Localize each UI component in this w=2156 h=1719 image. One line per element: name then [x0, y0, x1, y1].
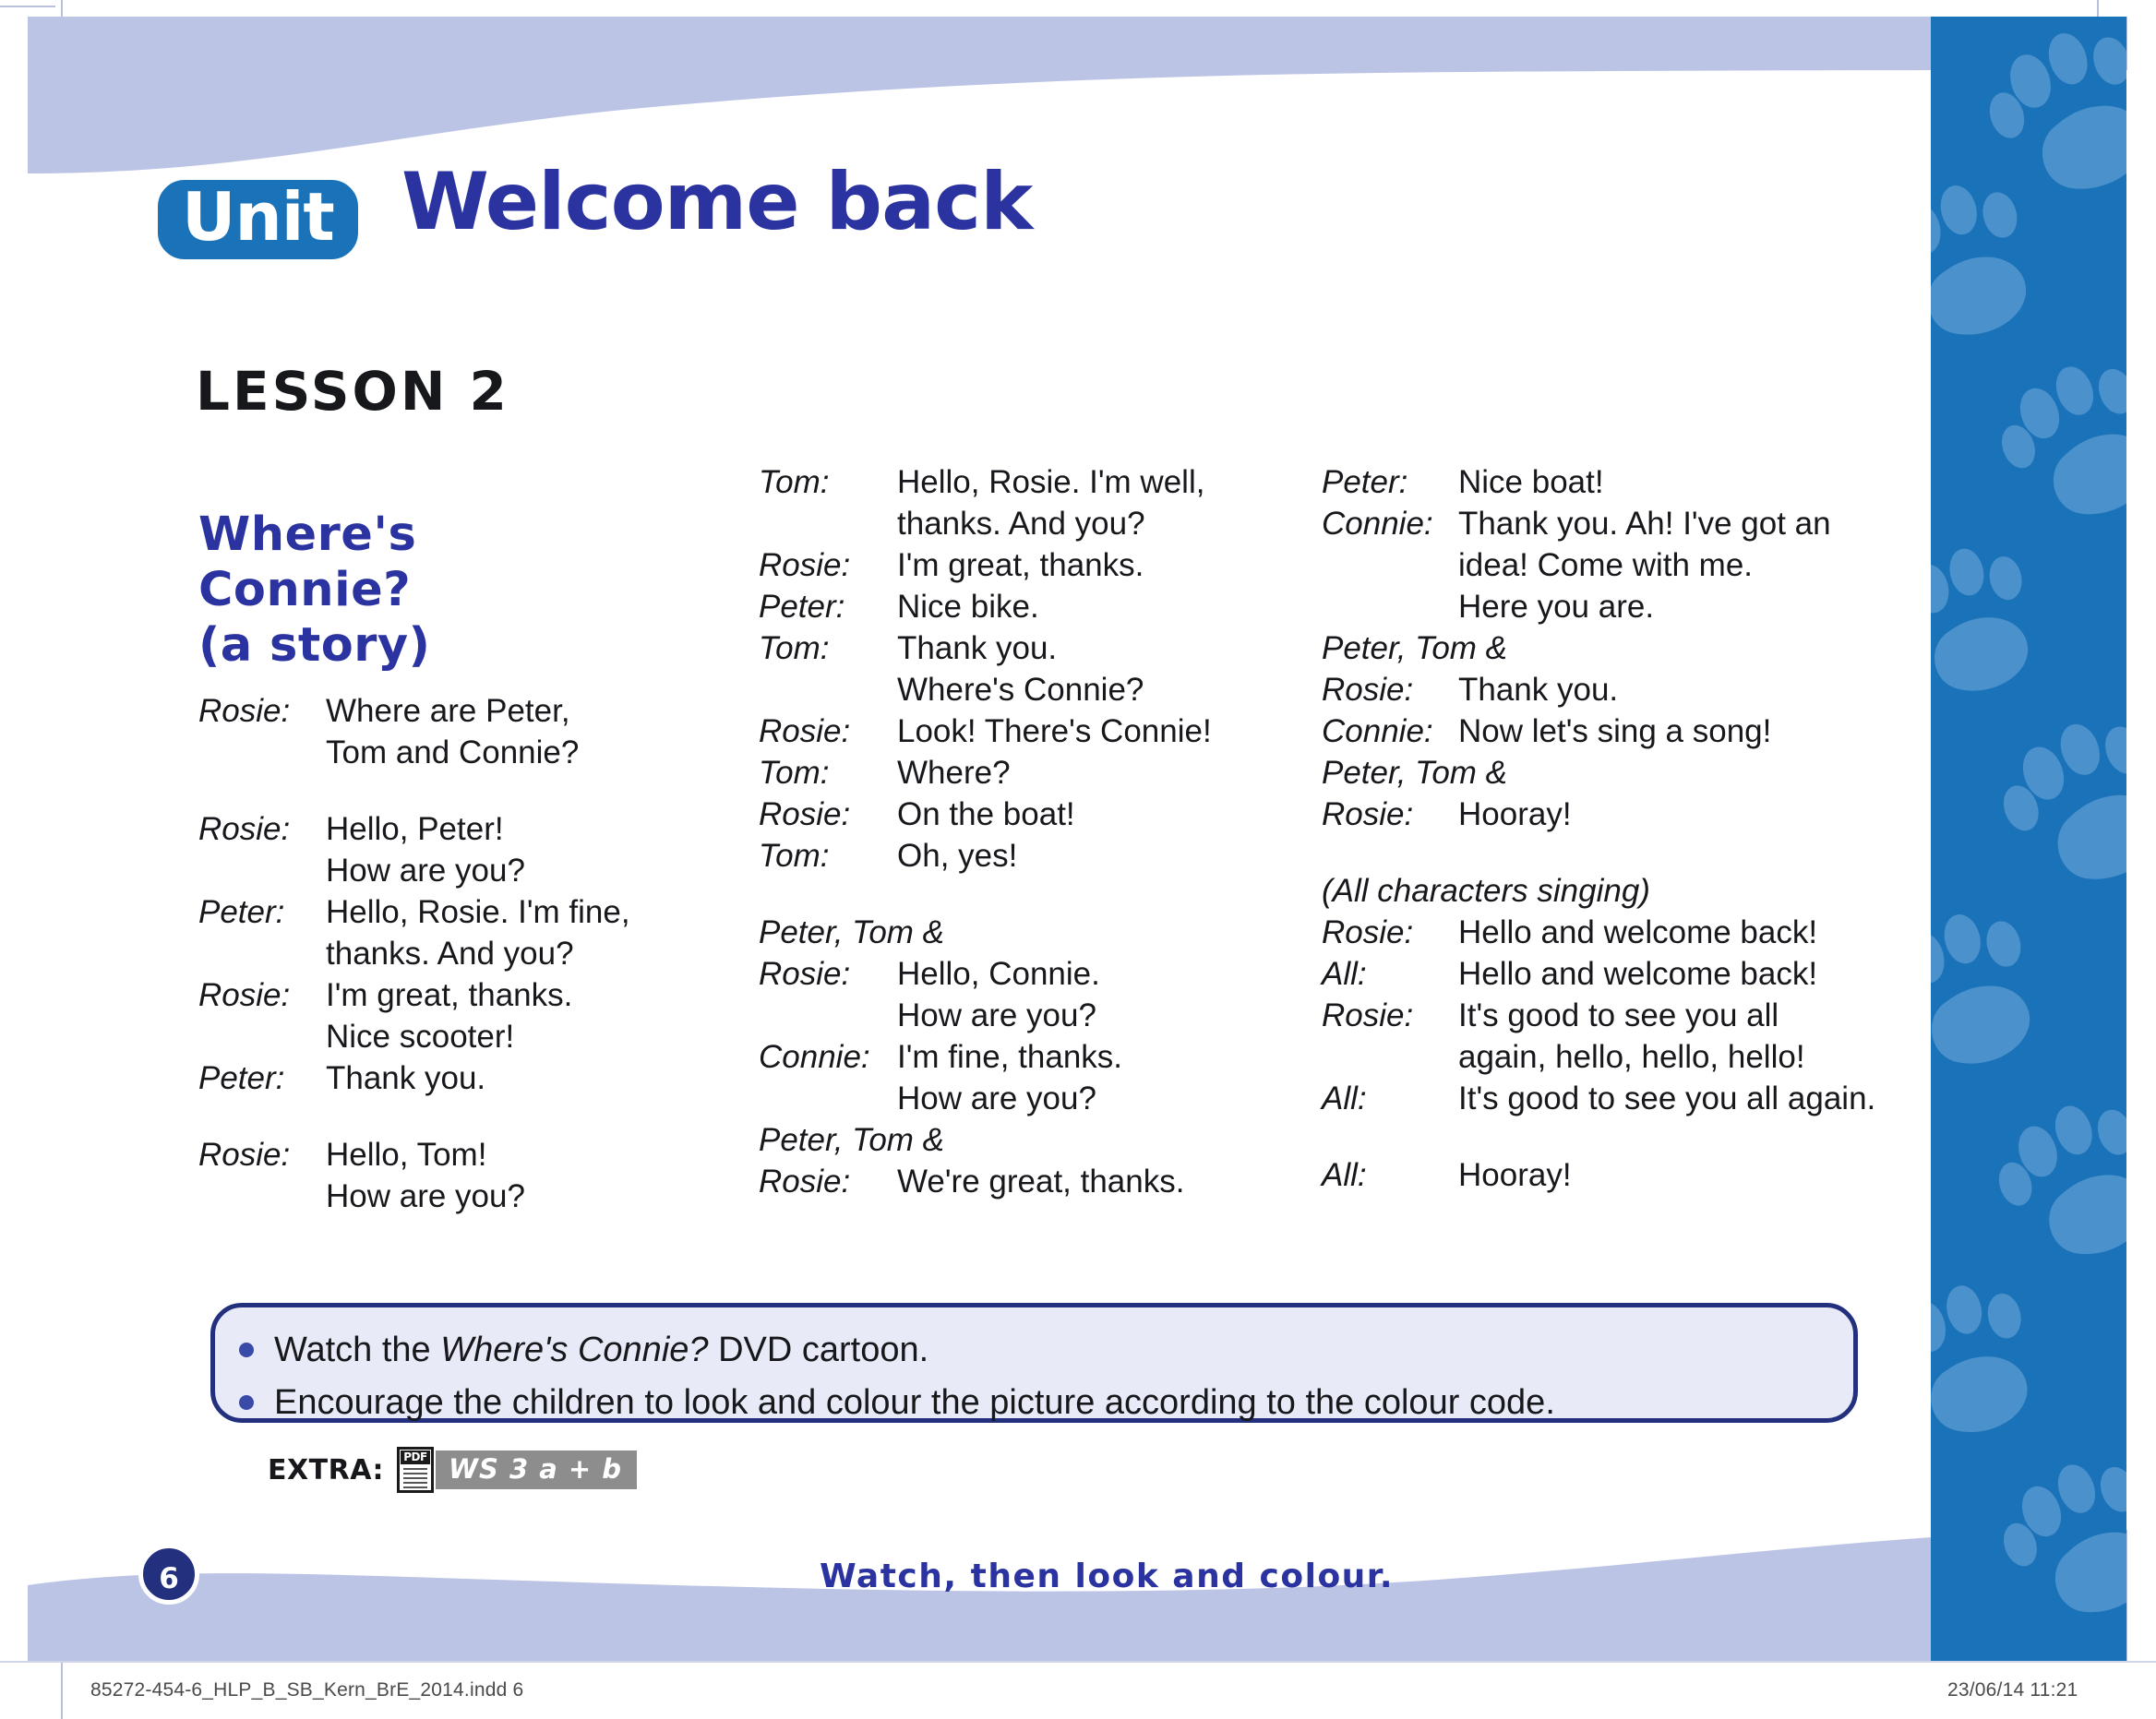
dialogue-text: Nice scooter! — [326, 1016, 715, 1057]
dialogue-line: Rosie:Look! There's Connie! — [759, 710, 1322, 752]
dialogue-line: Rosie:How are you? — [759, 995, 1322, 1036]
textbook-page: Unit Welcome back LESSON 2 Where's Conni… — [0, 0, 2156, 1719]
speaker-label: Peter: — [198, 1057, 326, 1099]
dialogue-line: Rosie:Hooray! — [1322, 794, 1912, 835]
page-title: Welcome back — [401, 162, 1032, 242]
dialogue-text: Nice boat! — [1458, 461, 1912, 503]
dialogue-text: Here you are. — [1458, 586, 1912, 627]
dialogue-line: Peter:Hello, Rosie. I'm fine, — [198, 891, 715, 933]
speaker-label: Rosie: — [759, 794, 897, 835]
speaker-label: Rosie: — [198, 690, 326, 732]
dialogue-line: Tom:Hello, Rosie. I'm well, — [759, 461, 1322, 503]
dialogue-text: thanks. And you? — [326, 933, 715, 974]
dialogue-column-2: Tom:Hello, Rosie. I'm well,Tom:thanks. A… — [759, 461, 1322, 1202]
dialogue-line: All:It's good to see you all again. — [1322, 1078, 1912, 1119]
speaker-label: All: — [1322, 1154, 1458, 1196]
speaker-label: Peter: — [1322, 461, 1458, 503]
speaker-label: Peter: — [759, 586, 897, 627]
dialogue-line: Rosie:again, hello, hello, hello! — [1322, 1036, 1912, 1078]
dialogue-text: We're great, thanks. — [897, 1161, 1322, 1202]
dialogue-line: Peter:Nice bike. — [759, 586, 1322, 627]
dialogue-gap — [198, 773, 715, 808]
dialogue-text: idea! Come with me. — [1458, 544, 1912, 586]
speaker-label-wide: Peter, Tom & — [1322, 752, 1912, 794]
dialogue-line: Connie:I'm fine, thanks. — [759, 1036, 1322, 1078]
instruction-item-2-text: Encourage the children to look and colou… — [274, 1377, 1555, 1429]
dialogue-line: All:Hooray! — [1322, 1154, 1912, 1196]
dialogue-text: again, hello, hello, hello! — [1458, 1036, 1912, 1078]
speaker-label-wide: Peter, Tom & — [1322, 627, 1912, 669]
dialogue-gap — [1322, 835, 1912, 870]
dialogue-column-3: Peter:Nice boat!Connie:Thank you. Ah! I'… — [1322, 461, 1912, 1196]
trim-mark-top — [0, 6, 55, 7]
pdf-icon-label: PDF — [401, 1450, 430, 1464]
speaker-label: Rosie: — [1322, 794, 1458, 835]
dialogue-text: Thank you. — [1458, 669, 1912, 710]
instruction-item-1-text: Watch the Where's Connie? DVD cartoon. — [274, 1324, 928, 1377]
story-title: Where's Connie? (a story) — [198, 507, 632, 674]
dialogue-text: Look! There's Connie! — [897, 710, 1322, 752]
dialogue-text: Hello and welcome back! — [1458, 953, 1912, 995]
dialogue-text: How are you? — [897, 995, 1322, 1036]
story-title-line2: (a story) — [198, 618, 632, 674]
dialogue-line: Tom:Where? — [759, 752, 1322, 794]
dialogue-line: Connie:Here you are. — [1322, 586, 1912, 627]
speaker-label: Peter: — [198, 891, 326, 933]
dialogue-text: Hello, Peter! — [326, 808, 715, 850]
trim-mark-bottom — [0, 1661, 2156, 1663]
extra-resource-row: EXTRA: PDF WS 3 a + b — [268, 1447, 637, 1493]
dialogue-line: Rosie:Nice scooter! — [198, 1016, 715, 1057]
story-title-line1: Where's Connie? — [198, 507, 632, 618]
dialogue-text: How are you? — [326, 850, 715, 891]
dialogue-text: I'm great, thanks. — [897, 544, 1322, 586]
speaker-label: Connie: — [1322, 710, 1458, 752]
dialogue-text: On the boat! — [897, 794, 1322, 835]
dialogue-text: Hello, Rosie. I'm fine, — [326, 891, 715, 933]
dialogue-text: Where are Peter, — [326, 690, 715, 732]
speaker-label: Tom: — [759, 835, 897, 877]
lesson-heading: LESSON 2 — [196, 360, 509, 423]
extra-label: EXTRA: — [268, 1454, 384, 1486]
dialogue-text: Nice bike. — [897, 586, 1322, 627]
speaker-label: Tom: — [759, 752, 897, 794]
page-number-badge: 6 — [138, 1544, 199, 1605]
dialogue-text: Hello, Tom! — [326, 1134, 715, 1176]
dialogue-line: Tom:thanks. And you? — [759, 503, 1322, 544]
dvd-title: Where's Connie? — [440, 1331, 708, 1369]
dialogue-line: All:Hello and welcome back! — [1322, 953, 1912, 995]
dialogue-line: Peter:thanks. And you? — [198, 933, 715, 974]
dialogue-text: Hello and welcome back! — [1458, 912, 1912, 953]
dialogue-line: Connie:idea! Come with me. — [1322, 544, 1912, 586]
speaker-label-wide: Peter, Tom & — [759, 912, 1322, 953]
bullet-icon — [239, 1343, 254, 1357]
dialogue-line: Rosie:I'm great, thanks. — [198, 974, 715, 1016]
dialogue-line: Rosie:How are you? — [198, 1176, 715, 1217]
dialogue-text: Thank you. — [326, 1057, 715, 1099]
speaker-label: Rosie: — [759, 1161, 897, 1202]
dialogue-line: Connie:Thank you. Ah! I've got an — [1322, 503, 1912, 544]
dialogue-line: Rosie:Thank you. — [1322, 669, 1912, 710]
dialogue-column-1: Rosie:Where are Peter,Rosie:Tom and Conn… — [198, 690, 715, 1217]
print-file-name: 85272-454-6_HLP_B_SB_Kern_BrE_2014.indd … — [90, 1679, 523, 1701]
dialogue-text: Oh, yes! — [897, 835, 1322, 877]
speaker-label: Tom: — [759, 627, 897, 669]
unit-badge: Unit — [150, 172, 366, 268]
speaker-label: Tom: — [759, 461, 897, 503]
speaker-label: Rosie: — [759, 953, 897, 995]
dialogue-line: Tom:Thank you. — [759, 627, 1322, 669]
dialogue-text: Thank you. — [897, 627, 1322, 669]
dialogue-line: Rosie:Hello and welcome back! — [1322, 912, 1912, 953]
dialogue-text: I'm great, thanks. — [326, 974, 715, 1016]
speaker-label: All: — [1322, 953, 1458, 995]
dialogue-line: Peter:Thank you. — [198, 1057, 715, 1099]
dialogue-line: Connie:How are you? — [759, 1078, 1322, 1119]
speaker-label-wide: Peter, Tom & — [759, 1119, 1322, 1161]
speaker-label: Connie: — [1322, 503, 1458, 544]
dialogue-text: Where? — [897, 752, 1322, 794]
speaker-label: Rosie: — [1322, 912, 1458, 953]
dialogue-text: How are you? — [897, 1078, 1322, 1119]
speaker-label: Rosie: — [198, 1134, 326, 1176]
dialogue-text: It's good to see you all — [1458, 995, 1912, 1036]
dialogue-line: Tom:Oh, yes! — [759, 835, 1322, 877]
dialogue-text: Hello, Rosie. I'm well, — [897, 461, 1322, 503]
dialogue-text: thanks. And you? — [897, 503, 1322, 544]
print-timestamp: 23/06/14 11:21 — [1947, 1679, 2078, 1701]
activity-caption: Watch, then look and colour. — [820, 1558, 1394, 1595]
dialogue-line: Rosie:On the boat! — [759, 794, 1322, 835]
dialogue-gap — [1322, 1119, 1912, 1154]
worksheet-badge: WS 3 a + b — [436, 1450, 637, 1489]
speaker-label: Connie: — [759, 1036, 897, 1078]
dialogue-line: Connie:Now let's sing a song! — [1322, 710, 1912, 752]
dialogue-text: Hooray! — [1458, 1154, 1912, 1196]
speaker-label: Rosie: — [198, 974, 326, 1016]
dialogue-line: Rosie:Hello, Tom! — [198, 1134, 715, 1176]
dialogue-line: Rosie:Hello, Connie. — [759, 953, 1322, 995]
speaker-label: Rosie: — [1322, 669, 1458, 710]
paw-print-sidebar — [1931, 17, 2126, 1661]
pdf-icon: PDF — [397, 1447, 434, 1493]
dialogue-line: Rosie:How are you? — [198, 850, 715, 891]
dialogue-line: Rosie:It's good to see you all — [1322, 995, 1912, 1036]
dialogue-text: Now let's sing a song! — [1458, 710, 1912, 752]
dialogue-line: Rosie:Where are Peter, — [198, 690, 715, 732]
dialogue-text: It's good to see you all again. — [1458, 1078, 1912, 1119]
dialogue-line: Rosie:We're great, thanks. — [759, 1161, 1322, 1202]
dialogue-text: Tom and Connie? — [326, 732, 715, 773]
pdf-icon-lines — [403, 1468, 427, 1491]
dialogue-text: Thank you. Ah! I've got an — [1458, 503, 1912, 544]
dialogue-line: Rosie:Tom and Connie? — [198, 732, 715, 773]
dialogue-text: I'm fine, thanks. — [897, 1036, 1322, 1078]
instruction-item-1: Watch the Where's Connie? DVD cartoon. — [239, 1324, 1853, 1377]
speaker-label: Rosie: — [759, 544, 897, 586]
dialogue-text: Hooray! — [1458, 794, 1912, 835]
dialogue-line: Rosie:I'm great, thanks. — [759, 544, 1322, 586]
paw-pattern — [1931, 17, 2126, 1661]
stage-direction: (All characters singing) — [1322, 870, 1912, 912]
dialogue-line: Rosie:Hello, Peter! — [198, 808, 715, 850]
dialogue-gap — [198, 1099, 715, 1134]
dialogue-text: Where's Connie? — [897, 669, 1322, 710]
instruction-item-2: Encourage the children to look and colou… — [239, 1377, 1853, 1429]
dialogue-text: How are you? — [326, 1176, 715, 1217]
dialogue-line: Peter:Nice boat! — [1322, 461, 1912, 503]
instruction-box: Watch the Where's Connie? DVD cartoon. E… — [210, 1303, 1858, 1423]
dialogue-gap — [759, 877, 1322, 912]
speaker-label: All: — [1322, 1078, 1458, 1119]
speaker-label: Rosie: — [198, 808, 326, 850]
dialogue-line: Tom:Where's Connie? — [759, 669, 1322, 710]
speaker-label: Rosie: — [1322, 995, 1458, 1036]
bullet-icon — [239, 1395, 254, 1410]
dialogue-text: Hello, Connie. — [897, 953, 1322, 995]
speaker-label: Rosie: — [759, 710, 897, 752]
